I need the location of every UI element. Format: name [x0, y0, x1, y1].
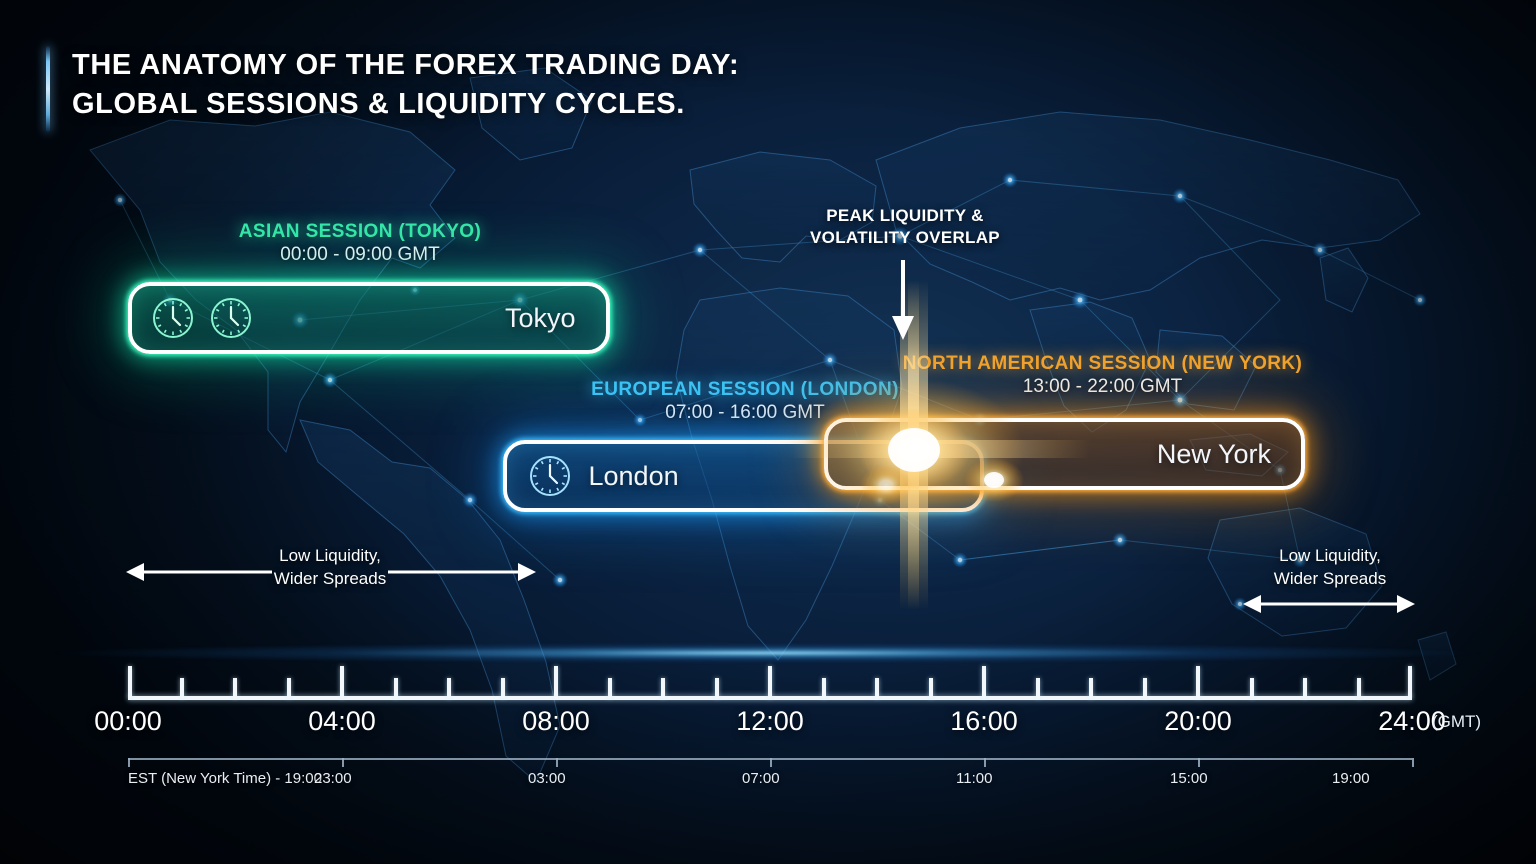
- timeline-gmt-label: 00:00: [94, 706, 162, 737]
- peak-annotation-line-1: PEAK LIQUIDITY &: [790, 205, 1020, 227]
- est-axis-label: 11:00: [956, 770, 992, 787]
- low-liquidity-right-arrow-icon: [1243, 592, 1415, 616]
- timeline-gmt-label: 20:00: [1164, 706, 1232, 737]
- timeline-minor-tick: [1143, 678, 1147, 698]
- session-north-american-name: NORTH AMERICAN SESSION (NEW YORK): [865, 352, 1340, 375]
- session-asian-hours: 00:00 - 09:00 GMT: [110, 243, 610, 266]
- timeline-minor-tick: [180, 678, 184, 698]
- timeline-minor-tick: [1357, 678, 1361, 698]
- timeline-major-tick: [768, 666, 772, 698]
- infographic-canvas: THE ANATOMY OF THE FOREX TRADING DAY: GL…: [0, 0, 1536, 864]
- est-axis-tick: [1412, 758, 1414, 767]
- est-axis-label: 19:00: [1332, 770, 1370, 787]
- timeline-gmt-label: 04:00: [308, 706, 376, 737]
- timeline-major-tick: [128, 666, 132, 698]
- timeline-minor-tick: [1089, 678, 1093, 698]
- est-axis-label: 07:00: [742, 770, 780, 787]
- timeline-minor-tick: [233, 678, 237, 698]
- title-accent-bar: [46, 46, 50, 132]
- clock-icon: [150, 295, 196, 341]
- low-liquidity-right-label: Low Liquidity, Wider Spreads: [1250, 545, 1410, 591]
- timeline-major-tick: [982, 666, 986, 698]
- timeline-axis[interactable]: 00:0004:0008:0012:0016:0020:0024:00 (GMT…: [0, 660, 1536, 860]
- est-axis-label: 15:00: [1170, 770, 1208, 787]
- timeline-minor-tick: [287, 678, 291, 698]
- clock-icon: [527, 453, 573, 499]
- session-asian-label: ASIAN SESSION (TOKYO) 00:00 - 09:00 GMT: [110, 220, 610, 266]
- low-liquidity-left-arrow-icon: [126, 560, 536, 584]
- clock-icon: [208, 295, 254, 341]
- peak-liquidity-annotation: PEAK LIQUIDITY & VOLATILITY OVERLAP: [790, 205, 1020, 249]
- timeline-major-tick: [340, 666, 344, 698]
- session-north-american-hours: 13:00 - 22:00 GMT: [865, 375, 1340, 398]
- timeline-minor-tick: [1036, 678, 1040, 698]
- timeline-major-tick: [1408, 666, 1412, 698]
- timeline-gmt-label: 16:00: [950, 706, 1018, 737]
- est-axis-tick: [556, 758, 558, 767]
- timeline-minor-tick: [394, 678, 398, 698]
- timeline-major-tick: [554, 666, 558, 698]
- est-axis-label: 23:00: [314, 770, 352, 787]
- session-asian-bar[interactable]: Tokyo: [128, 282, 610, 354]
- est-axis-tick: [770, 758, 772, 767]
- timeline-minor-tick: [608, 678, 612, 698]
- session-asian-name: ASIAN SESSION (TOKYO): [110, 220, 610, 243]
- timeline-minor-tick: [661, 678, 665, 698]
- timeline-minor-tick: [875, 678, 879, 698]
- timeline-minor-tick: [447, 678, 451, 698]
- timeline-minor-tick: [1250, 678, 1254, 698]
- session-north-american-city: New York: [1157, 439, 1271, 470]
- timeline-minor-tick: [501, 678, 505, 698]
- timeline-gmt-label: 08:00: [522, 706, 590, 737]
- timeline-minor-tick: [822, 678, 826, 698]
- timeline-gmt-unit: (GMT): [1432, 712, 1481, 732]
- timeline-minor-tick: [1303, 678, 1307, 698]
- peak-annotation-line-2: VOLATILITY OVERLAP: [790, 227, 1020, 249]
- session-north-american-bar[interactable]: New York: [824, 418, 1306, 490]
- est-axis-tick: [342, 758, 344, 767]
- title-line-1: THE ANATOMY OF THE FOREX TRADING DAY:: [72, 46, 739, 85]
- page-title: THE ANATOMY OF THE FOREX TRADING DAY: GL…: [46, 46, 739, 132]
- session-asian-city: Tokyo: [505, 303, 576, 334]
- session-north-american-label: NORTH AMERICAN SESSION (NEW YORK) 13:00 …: [865, 352, 1340, 398]
- timeline-major-tick: [1196, 666, 1200, 698]
- title-text: THE ANATOMY OF THE FOREX TRADING DAY: GL…: [72, 46, 739, 132]
- session-european-city: London: [589, 461, 679, 492]
- title-line-2: GLOBAL SESSIONS & LIQUIDITY CYCLES.: [72, 85, 739, 124]
- est-caption: EST (New York Time) - 19:00: [128, 770, 322, 787]
- timeline-minor-tick: [929, 678, 933, 698]
- low-liquidity-right-line-2: Wider Spreads: [1250, 568, 1410, 591]
- est-axis-tick: [984, 758, 986, 767]
- est-axis-tick: [1198, 758, 1200, 767]
- timeline-minor-tick: [715, 678, 719, 698]
- session-asian-clock-group: [150, 295, 254, 341]
- low-liquidity-right-line-1: Low Liquidity,: [1250, 545, 1410, 568]
- timeline-gmt-label: 12:00: [736, 706, 804, 737]
- est-axis-tick: [128, 758, 130, 767]
- peak-annotation-arrow-icon: [888, 258, 918, 342]
- est-axis-label: 03:00: [528, 770, 566, 787]
